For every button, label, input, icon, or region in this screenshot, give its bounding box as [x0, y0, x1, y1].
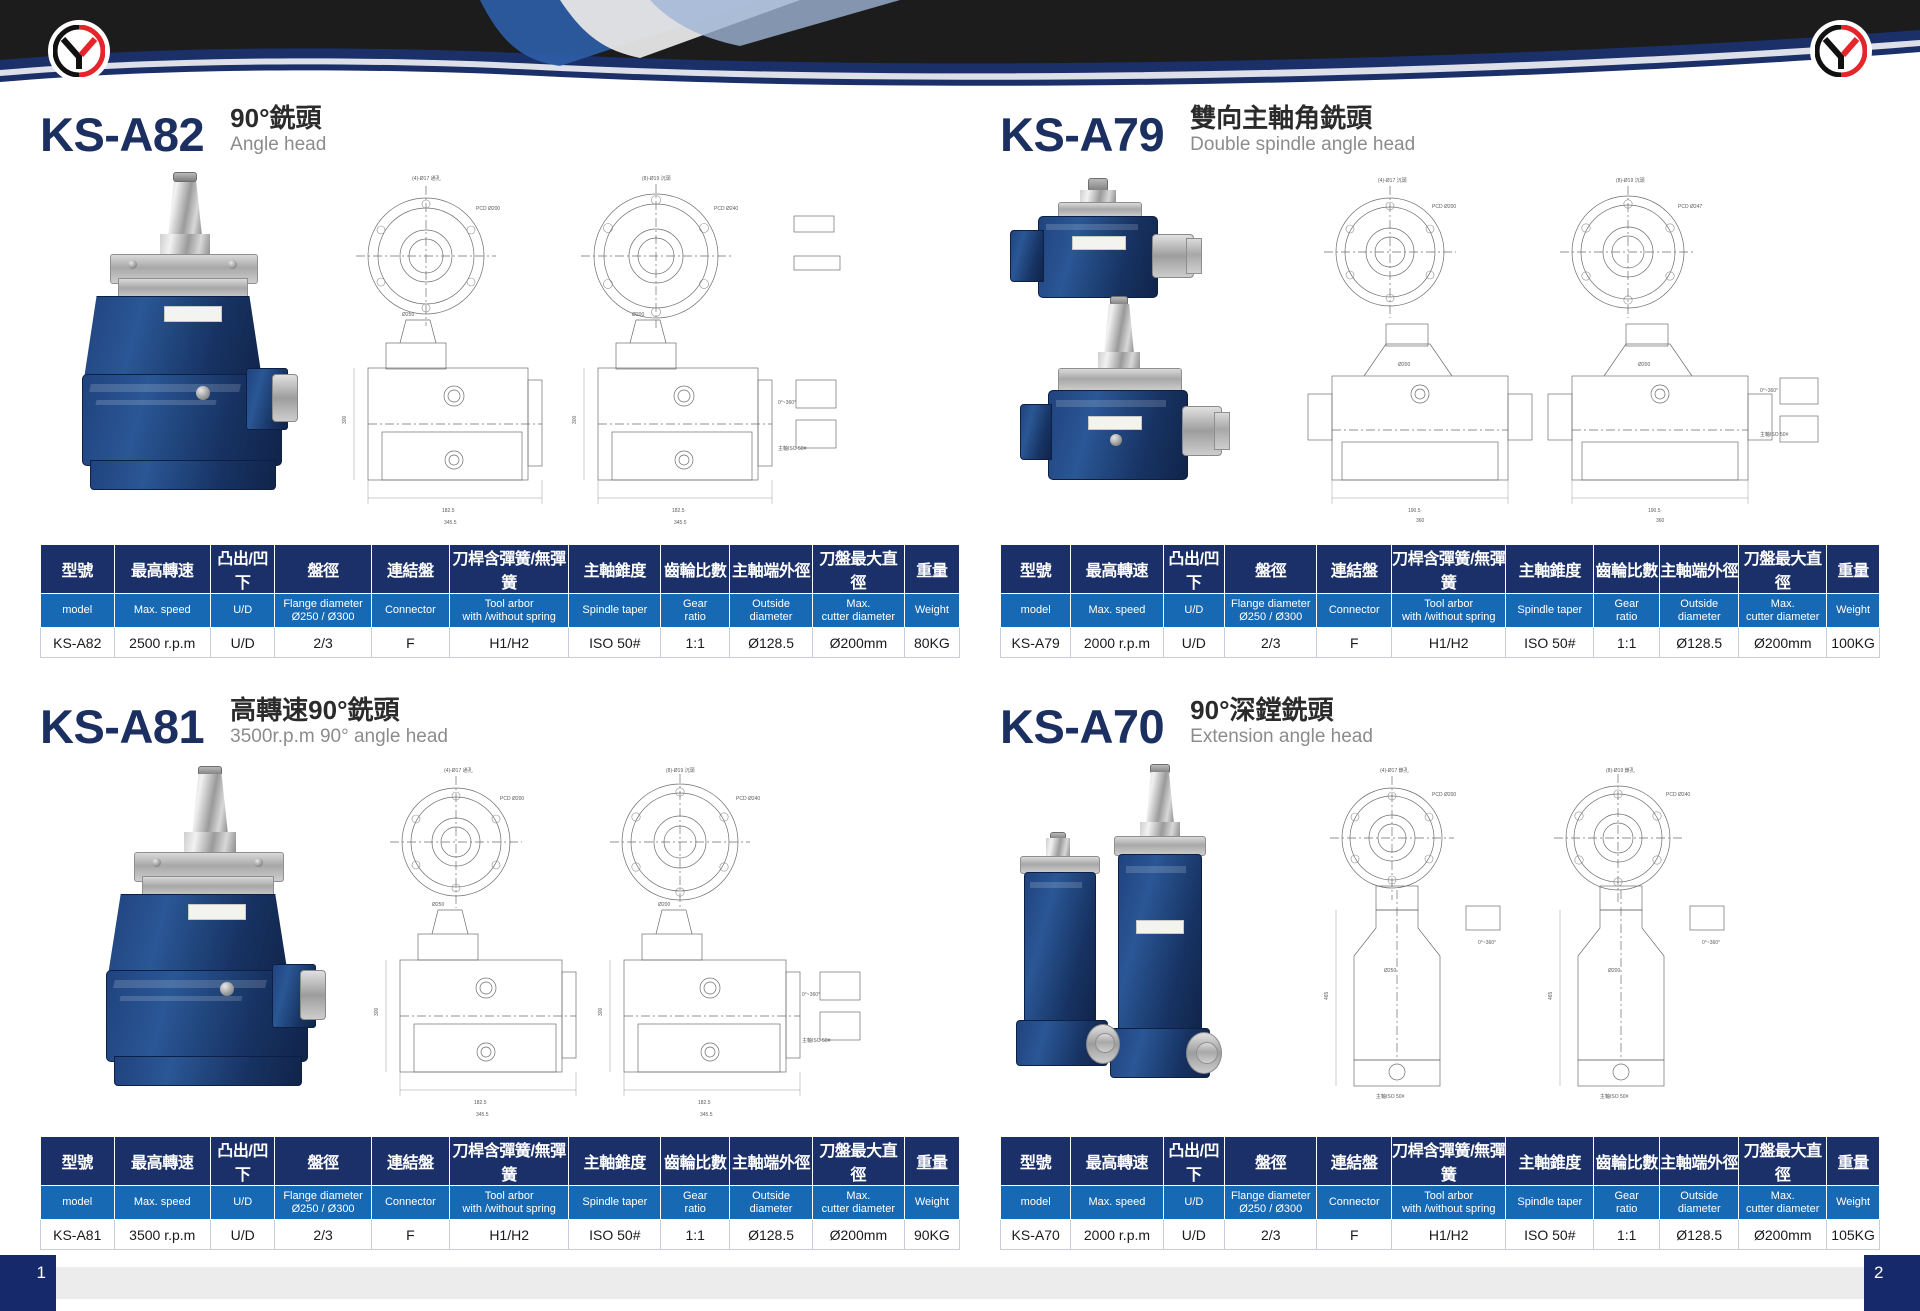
th-en-speed: Max. speed	[1071, 1186, 1163, 1220]
th-en-connector: Connector	[1317, 594, 1392, 628]
engineering-drawing-ks-a79: (4)-Ø17 沉頭 PCD Ø200 (8)-Ø19 沉頭 PCD Ø247 …	[1280, 168, 1880, 528]
th-en-model: model	[41, 1186, 115, 1220]
th-en-flange: Flange diameterØ250 / Ø300	[1225, 594, 1317, 628]
product-model-code: KS-A81	[40, 703, 204, 750]
td-taper: ISO 50#	[569, 628, 661, 658]
td-outside: Ø128.5	[730, 628, 813, 658]
th-cn-flange: 盤徑	[275, 545, 371, 594]
th-cn-ud: 凸出/凹下	[1163, 545, 1225, 594]
td-gear: 1:1	[661, 1220, 730, 1250]
td-cutter: Ø200mm	[812, 1220, 904, 1250]
th-en-taper: Spindle taper	[1506, 594, 1594, 628]
svg-text:(8)-Ø19 沉頭: (8)-Ø19 沉頭	[1616, 177, 1645, 184]
th-en-weight: Weight	[1827, 594, 1880, 628]
th-en-model: model	[1001, 594, 1071, 628]
th-cn-outside: 主軸端外徑	[730, 545, 813, 594]
product-photo	[86, 770, 336, 1100]
product-media: (4)-Ø17 沉頭 PCD Ø200 (8)-Ø19 沉頭 PCD Ø247 …	[1000, 168, 1880, 538]
td-flange: 2/3	[275, 1220, 371, 1250]
company-y-logo-icon	[53, 25, 105, 77]
svg-text:Ø200: Ø200	[1638, 362, 1650, 368]
th-en-gear: Gearratio	[1594, 1186, 1660, 1220]
th-cn-model: 型號	[41, 1137, 115, 1186]
svg-text:190.5: 190.5	[1648, 508, 1661, 514]
th-en-connector: Connector	[371, 1186, 449, 1220]
svg-text:0°~360°: 0°~360°	[1702, 940, 1720, 946]
td-model: KS-A81	[41, 1220, 115, 1250]
td-model: KS-A79	[1001, 628, 1071, 658]
technical-drawings: (4)-Ø17 沉頭 PCD Ø200 (8)-Ø19 沉頭 PCD Ø247 …	[1280, 168, 1880, 533]
product-header: KS-A79 雙向主軸角銑頭 Double spindle angle head	[1000, 96, 1880, 158]
engineering-drawing-ks-a81: (4)-Ø17 通孔 PCD Ø200 (8)-Ø19 沉頭 PCD Ø240 …	[360, 760, 960, 1120]
th-en-cutter: Max.cutter diameter	[1739, 594, 1827, 628]
td-speed: 3500 r.p.m	[114, 1220, 210, 1250]
spec-data-row: KS-A70 2000 r.p.m U/D 2/3 F H1/H2 ISO 50…	[1001, 1220, 1880, 1250]
th-en-connector: Connector	[371, 594, 449, 628]
svg-text:345.5: 345.5	[700, 1112, 713, 1118]
td-connector: F	[1317, 628, 1392, 658]
th-en-arbor: Tool arborwith /without spring	[1392, 1186, 1506, 1220]
page-footer: 1 2	[0, 1255, 1920, 1311]
th-cn-connector: 連結盤	[371, 545, 449, 594]
td-taper: ISO 50#	[1506, 628, 1594, 658]
th-cn-arbor: 刀桿含彈簧/無彈簧	[1392, 1137, 1506, 1186]
product-name-en: 3500r.p.m 90° angle head	[230, 726, 448, 748]
svg-text:345.5: 345.5	[444, 520, 457, 526]
th-cn-taper: 主軸錐度	[569, 545, 661, 594]
td-outside: Ø128.5	[1660, 628, 1739, 658]
th-en-speed: Max. speed	[1071, 594, 1163, 628]
page-number-right: 2	[1864, 1255, 1920, 1311]
td-weight: 105KG	[1827, 1220, 1880, 1250]
catalog-page: KS-A82 90°銑頭 Angle head	[0, 0, 1920, 1311]
th-cn-outside: 主軸端外徑	[730, 1137, 813, 1186]
th-en-model: model	[1001, 1186, 1071, 1220]
svg-text:345.5: 345.5	[476, 1112, 489, 1118]
svg-text:360: 360	[1416, 518, 1425, 524]
svg-text:Ø250: Ø250	[1384, 968, 1396, 974]
th-en-gear: Gearratio	[661, 594, 730, 628]
th-en-connector: Connector	[1317, 1186, 1392, 1220]
footer-bar	[0, 1267, 1920, 1299]
td-ud: U/D	[1163, 628, 1225, 658]
th-en-arbor: Tool arborwith /without spring	[449, 594, 568, 628]
page-number-left: 1	[0, 1255, 56, 1311]
td-connector: F	[371, 1220, 449, 1250]
td-ud: U/D	[211, 1220, 275, 1250]
product-header: KS-A81 高轉速90°銑頭 3500r.p.m 90° angle head	[40, 688, 960, 750]
th-cn-speed: 最高轉速	[1071, 1137, 1163, 1186]
th-cn-weight: 重量	[904, 545, 959, 594]
th-en-outside: Outsidediameter	[1660, 594, 1739, 628]
spec-header-row-en: model Max. speed U/D Flange diameterØ250…	[41, 594, 960, 628]
svg-text:300: 300	[598, 1007, 604, 1016]
td-connector: F	[371, 628, 449, 658]
product-name-cn: 90°銑頭	[230, 104, 326, 133]
th-cn-model: 型號	[1001, 545, 1071, 594]
page-banner	[0, 0, 1920, 86]
th-en-cutter: Max.cutter diameter	[1739, 1186, 1827, 1220]
svg-text:PCD Ø200: PCD Ø200	[500, 796, 524, 802]
th-cn-taper: 主軸錐度	[1506, 545, 1594, 594]
svg-text:(8)-Ø19 鎖孔: (8)-Ø19 鎖孔	[1606, 767, 1635, 774]
spec-header-row-en: model Max. speed U/D Flange diameterØ250…	[1001, 1186, 1880, 1220]
svg-text:465: 465	[1548, 991, 1554, 1000]
th-cn-cutter: 刀盤最大直徑	[812, 1137, 904, 1186]
td-cutter: Ø200mm	[1739, 1220, 1827, 1250]
svg-text:PCD Ø200: PCD Ø200	[476, 206, 500, 212]
dwg-note-holes: (4)-Ø17 通孔	[412, 175, 441, 182]
td-arbor: H1/H2	[449, 628, 568, 658]
product-photo	[1010, 770, 1250, 1100]
th-en-outside: Outsidediameter	[730, 594, 813, 628]
product-block-ks-a82: KS-A82 90°銑頭 Angle head	[40, 96, 960, 658]
svg-text:PCD Ø240: PCD Ø240	[714, 206, 738, 212]
th-cn-weight: 重量	[904, 1137, 959, 1186]
td-model: KS-A70	[1001, 1220, 1071, 1250]
td-weight: 90KG	[904, 1220, 959, 1250]
th-cn-flange: 盤徑	[1225, 545, 1317, 594]
th-cn-ud: 凸出/凹下	[1163, 1137, 1225, 1186]
th-en-ud: U/D	[211, 594, 275, 628]
th-en-gear: Gearratio	[661, 1186, 730, 1220]
product-model-code: KS-A82	[40, 111, 204, 158]
th-en-flange: Flange diameterØ250 / Ø300	[275, 594, 371, 628]
company-y-logo-icon	[1815, 25, 1867, 77]
svg-text:(4)-Ø17 鎖孔: (4)-Ø17 鎖孔	[1380, 767, 1409, 774]
td-cutter: Ø200mm	[812, 628, 904, 658]
svg-text:PCD Ø240: PCD Ø240	[1666, 792, 1690, 798]
technical-drawings: (4)-Ø17 鎖孔 PCD Ø200 (8)-Ø19 鎖孔 PCD Ø240 …	[1280, 760, 1880, 1125]
td-weight: 100KG	[1827, 628, 1880, 658]
svg-text:182.5: 182.5	[698, 1100, 711, 1106]
svg-text:PCD Ø200: PCD Ø200	[1432, 204, 1456, 210]
spec-header-row-en: model Max. speed U/D Flange diameterØ250…	[41, 1186, 960, 1220]
th-en-arbor: Tool arborwith /without spring	[449, 1186, 568, 1220]
svg-text:300: 300	[342, 415, 348, 424]
svg-text:182.5: 182.5	[442, 508, 455, 514]
td-gear: 1:1	[1594, 628, 1660, 658]
spec-table-ks-a81: 型號 最高轉速 凸出/凹下 盤徑 連結盤 刀桿含彈簧/無彈簧 主軸錐度 齒輪比數…	[40, 1136, 960, 1250]
product-name-cn: 90°深鏜銑頭	[1190, 696, 1373, 725]
td-arbor: H1/H2	[1392, 628, 1506, 658]
svg-text:190.5: 190.5	[1408, 508, 1421, 514]
th-cn-model: 型號	[41, 545, 115, 594]
svg-text:PCD Ø247: PCD Ø247	[1678, 204, 1702, 210]
th-cn-speed: 最高轉速	[114, 545, 210, 594]
svg-text:0°~360°: 0°~360°	[1478, 940, 1496, 946]
td-taper: ISO 50#	[569, 1220, 661, 1250]
th-en-ud: U/D	[1163, 594, 1225, 628]
svg-text:(4)-Ø17 通孔: (4)-Ø17 通孔	[444, 767, 473, 774]
svg-text:182.5: 182.5	[672, 508, 685, 514]
spec-data-row: KS-A82 2500 r.p.m U/D 2/3 F H1/H2 ISO 50…	[41, 628, 960, 658]
svg-text:360: 360	[1656, 518, 1665, 524]
company-logo-right	[1810, 20, 1872, 82]
th-en-weight: Weight	[904, 594, 959, 628]
svg-text:主軸ISO 50#: 主軸ISO 50#	[778, 445, 807, 452]
td-outside: Ø128.5	[730, 1220, 813, 1250]
technical-drawings: (4)-Ø17 通孔 PCD Ø200 (8)-Ø19 沉頭 PCD Ø240 …	[326, 168, 946, 533]
td-speed: 2500 r.p.m	[114, 628, 210, 658]
th-cn-ud: 凸出/凹下	[211, 545, 275, 594]
svg-text:(4)-Ø17 沉頭: (4)-Ø17 沉頭	[1378, 177, 1407, 184]
th-en-taper: Spindle taper	[1506, 1186, 1594, 1220]
svg-text:主軸ISO 50#: 主軸ISO 50#	[1600, 1093, 1629, 1100]
spec-table-ks-a79: 型號 最高轉速 凸出/凹下 盤徑 連結盤 刀桿含彈簧/無彈簧 主軸錐度 齒輪比數…	[1000, 544, 1880, 658]
th-en-flange: Flange diameterØ250 / Ø300	[275, 1186, 371, 1220]
product-block-ks-a70: KS-A70 90°深鏜銑頭 Extension angle head	[1000, 688, 1880, 1250]
svg-text:0°~360°: 0°~360°	[778, 400, 796, 406]
th-en-cutter: Max.cutter diameter	[812, 1186, 904, 1220]
spec-header-row-cn: 型號 最高轉速 凸出/凹下 盤徑 連結盤 刀桿含彈簧/無彈簧 主軸錐度 齒輪比數…	[1001, 545, 1880, 594]
th-en-weight: Weight	[904, 1186, 959, 1220]
td-arbor: H1/H2	[1392, 1220, 1506, 1250]
product-photo	[60, 178, 310, 508]
spec-header-row-cn: 型號 最高轉速 凸出/凹下 盤徑 連結盤 刀桿含彈簧/無彈簧 主軸錐度 齒輪比數…	[41, 545, 960, 594]
svg-text:300: 300	[374, 1007, 380, 1016]
th-cn-flange: 盤徑	[275, 1137, 371, 1186]
th-cn-outside: 主軸端外徑	[1660, 545, 1739, 594]
svg-text:182.5: 182.5	[474, 1100, 487, 1106]
spec-data-row: KS-A79 2000 r.p.m U/D 2/3 F H1/H2 ISO 50…	[1001, 628, 1880, 658]
th-en-cutter: Max.cutter diameter	[812, 594, 904, 628]
svg-text:Ø200: Ø200	[658, 902, 670, 908]
td-gear: 1:1	[1594, 1220, 1660, 1250]
svg-text:主軸ISO 50#: 主軸ISO 50#	[802, 1037, 831, 1044]
engineering-drawing-ks-a70: (4)-Ø17 鎖孔 PCD Ø200 (8)-Ø19 鎖孔 PCD Ø240 …	[1280, 760, 1880, 1120]
td-cutter: Ø200mm	[1739, 628, 1827, 658]
svg-text:(8)-Ø19 沉頭: (8)-Ø19 沉頭	[666, 767, 695, 774]
th-cn-arbor: 刀桿含彈簧/無彈簧	[449, 1137, 568, 1186]
th-en-ud: U/D	[211, 1186, 275, 1220]
th-cn-ud: 凸出/凹下	[211, 1137, 275, 1186]
td-ud: U/D	[1163, 1220, 1225, 1250]
product-block-ks-a79: KS-A79 雙向主軸角銑頭 Double spindle angle head	[1000, 96, 1880, 658]
spec-table-ks-a82: 型號 最高轉速 凸出/凹下 盤徑 連結盤 刀桿含彈簧/無彈簧 主軸錐度 齒輪比數…	[40, 544, 960, 658]
th-cn-weight: 重量	[1827, 1137, 1880, 1186]
th-en-model: model	[41, 594, 115, 628]
th-cn-taper: 主軸錐度	[569, 1137, 661, 1186]
svg-text:(8)-Ø19 沉頭: (8)-Ø19 沉頭	[642, 175, 671, 182]
th-cn-speed: 最高轉速	[114, 1137, 210, 1186]
th-en-outside: Outsidediameter	[730, 1186, 813, 1220]
td-outside: Ø128.5	[1660, 1220, 1739, 1250]
th-cn-cutter: 刀盤最大直徑	[1739, 545, 1827, 594]
spec-data-row: KS-A81 3500 r.p.m U/D 2/3 F H1/H2 ISO 50…	[41, 1220, 960, 1250]
technical-drawings: (4)-Ø17 通孔 PCD Ø200 (8)-Ø19 沉頭 PCD Ø240 …	[360, 760, 960, 1125]
td-flange: 2/3	[1225, 628, 1317, 658]
svg-text:Ø200: Ø200	[632, 312, 644, 318]
th-en-taper: Spindle taper	[569, 1186, 661, 1220]
th-cn-connector: 連結盤	[1317, 1137, 1392, 1186]
product-photo	[1010, 178, 1240, 508]
th-en-outside: Outsidediameter	[1660, 1186, 1739, 1220]
td-speed: 2000 r.p.m	[1071, 1220, 1163, 1250]
th-cn-connector: 連結盤	[1317, 545, 1392, 594]
th-cn-gear: 齒輪比數	[661, 1137, 730, 1186]
svg-text:Ø200: Ø200	[1608, 968, 1620, 974]
product-header: KS-A70 90°深鏜銑頭 Extension angle head	[1000, 688, 1880, 750]
product-name-cn: 高轉速90°銑頭	[230, 696, 448, 725]
th-cn-gear: 齒輪比數	[661, 545, 730, 594]
td-arbor: H1/H2	[449, 1220, 568, 1250]
th-en-ud: U/D	[1163, 1186, 1225, 1220]
engineering-drawing-ks-a82: (4)-Ø17 通孔 PCD Ø200 (8)-Ø19 沉頭 PCD Ø240 …	[326, 168, 946, 528]
product-name-en: Double spindle angle head	[1190, 134, 1415, 156]
svg-text:300: 300	[572, 415, 578, 424]
th-cn-cutter: 刀盤最大直徑	[1739, 1137, 1827, 1186]
product-name-en: Angle head	[230, 134, 326, 156]
th-cn-arbor: 刀桿含彈簧/無彈簧	[1392, 545, 1506, 594]
svg-text:PCD Ø240: PCD Ø240	[736, 796, 760, 802]
company-logo-left	[48, 20, 110, 82]
th-en-speed: Max. speed	[114, 1186, 210, 1220]
svg-text:主軸ISO 50#: 主軸ISO 50#	[1760, 431, 1789, 438]
svg-text:Ø250: Ø250	[402, 312, 414, 318]
th-cn-speed: 最高轉速	[1071, 545, 1163, 594]
svg-text:PCD Ø200: PCD Ø200	[1432, 792, 1456, 798]
product-media: (4)-Ø17 通孔 PCD Ø200 (8)-Ø19 沉頭 PCD Ø240 …	[40, 760, 960, 1130]
th-cn-arbor: 刀桿含彈簧/無彈簧	[449, 545, 568, 594]
product-model-code: KS-A70	[1000, 703, 1164, 750]
svg-text:0°~360°: 0°~360°	[1760, 388, 1778, 394]
th-en-weight: Weight	[1827, 1186, 1880, 1220]
td-ud: U/D	[211, 628, 275, 658]
th-en-speed: Max. speed	[114, 594, 210, 628]
td-model: KS-A82	[41, 628, 115, 658]
product-media: (4)-Ø17 鎖孔 PCD Ø200 (8)-Ø19 鎖孔 PCD Ø240 …	[1000, 760, 1880, 1130]
product-model-code: KS-A79	[1000, 111, 1164, 158]
product-name-cn: 雙向主軸角銑頭	[1190, 104, 1415, 133]
th-cn-cutter: 刀盤最大直徑	[812, 545, 904, 594]
svg-text:Ø250: Ø250	[432, 902, 444, 908]
svg-text:主軸ISO 50#: 主軸ISO 50#	[1376, 1093, 1405, 1100]
svg-text:0°~360°: 0°~360°	[802, 992, 820, 998]
td-flange: 2/3	[1225, 1220, 1317, 1250]
th-en-gear: Gearratio	[1594, 594, 1660, 628]
td-flange: 2/3	[275, 628, 371, 658]
td-weight: 80KG	[904, 628, 959, 658]
svg-text:Ø200: Ø200	[1398, 362, 1410, 368]
th-cn-gear: 齒輪比數	[1594, 1137, 1660, 1186]
td-taper: ISO 50#	[1506, 1220, 1594, 1250]
svg-text:345.5: 345.5	[674, 520, 687, 526]
th-cn-gear: 齒輪比數	[1594, 545, 1660, 594]
th-cn-weight: 重量	[1827, 545, 1880, 594]
td-speed: 2000 r.p.m	[1071, 628, 1163, 658]
th-cn-model: 型號	[1001, 1137, 1071, 1186]
product-name-en: Extension angle head	[1190, 726, 1373, 748]
product-block-ks-a81: KS-A81 高轉速90°銑頭 3500r.p.m 90° angle head	[40, 688, 960, 1250]
product-header: KS-A82 90°銑頭 Angle head	[40, 96, 960, 158]
th-cn-flange: 盤徑	[1225, 1137, 1317, 1186]
spec-header-row-en: model Max. speed U/D Flange diameterØ250…	[1001, 594, 1880, 628]
th-en-flange: Flange diameterØ250 / Ø300	[1225, 1186, 1317, 1220]
th-cn-connector: 連結盤	[371, 1137, 449, 1186]
spec-header-row-cn: 型號 最高轉速 凸出/凹下 盤徑 連結盤 刀桿含彈簧/無彈簧 主軸錐度 齒輪比數…	[1001, 1137, 1880, 1186]
svg-text:465: 465	[1324, 991, 1330, 1000]
th-en-arbor: Tool arborwith /without spring	[1392, 594, 1506, 628]
product-media: (4)-Ø17 通孔 PCD Ø200 (8)-Ø19 沉頭 PCD Ø240 …	[40, 168, 960, 538]
spec-table-ks-a70: 型號 最高轉速 凸出/凹下 盤徑 連結盤 刀桿含彈簧/無彈簧 主軸錐度 齒輪比數…	[1000, 1136, 1880, 1250]
td-gear: 1:1	[661, 628, 730, 658]
th-cn-outside: 主軸端外徑	[1660, 1137, 1739, 1186]
th-en-taper: Spindle taper	[569, 594, 661, 628]
th-cn-taper: 主軸錐度	[1506, 1137, 1594, 1186]
spec-header-row-cn: 型號 最高轉速 凸出/凹下 盤徑 連結盤 刀桿含彈簧/無彈簧 主軸錐度 齒輪比數…	[41, 1137, 960, 1186]
td-connector: F	[1317, 1220, 1392, 1250]
